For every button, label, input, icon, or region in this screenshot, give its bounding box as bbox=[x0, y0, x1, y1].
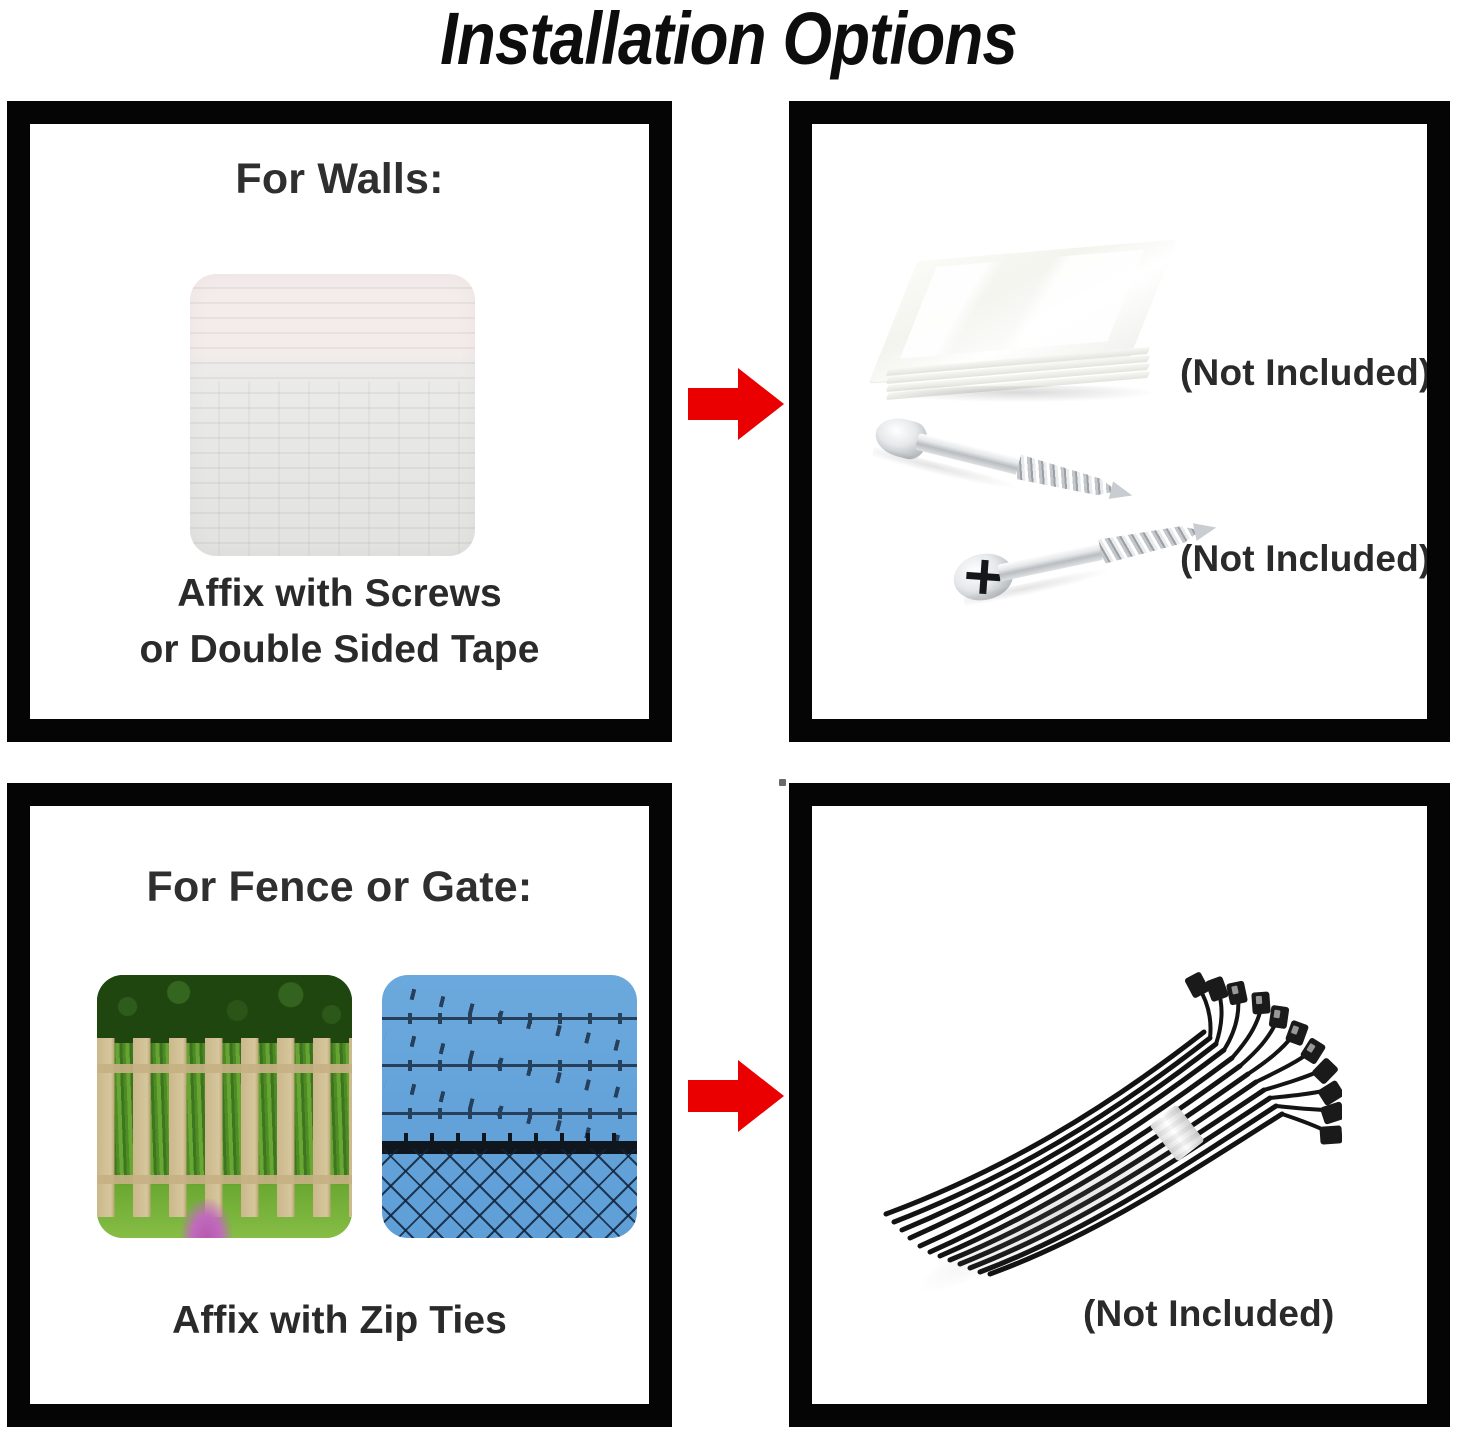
panel-fence-heading: For Fence or Gate: bbox=[30, 863, 649, 912]
panel-fence-hardware: (Not Included) bbox=[789, 783, 1450, 1427]
fence-rail bbox=[97, 1175, 352, 1184]
wall-photo bbox=[190, 274, 475, 556]
garden-path bbox=[181, 1199, 232, 1238]
caption-line-1: Affix with Screws bbox=[30, 566, 649, 621]
barbed-wire-strand bbox=[382, 1017, 637, 1020]
zip-ties-not-included-label: (Not Included) bbox=[1083, 1293, 1334, 1335]
panel-wall-hardware: (Not Included) (Not Included) bbox=[789, 101, 1450, 742]
screw-tip bbox=[1109, 481, 1135, 504]
panel-for-walls: For Walls: Affix with Screws or Double S… bbox=[7, 101, 672, 742]
barbed-wire-strand bbox=[382, 1112, 637, 1115]
barbed-wire-fence-photo bbox=[382, 975, 637, 1238]
barbed-wire-strand bbox=[382, 1064, 637, 1067]
arrow-shaft bbox=[688, 1080, 744, 1112]
brick-vertical-joints bbox=[190, 381, 475, 556]
screw-threads bbox=[1014, 452, 1120, 505]
panel-walls-caption: Affix with Screws or Double Sided Tape bbox=[30, 566, 649, 677]
right-arrow-icon bbox=[688, 368, 784, 440]
panel-fence-caption: Affix with Zip Ties bbox=[30, 1293, 649, 1348]
scan-artifact-speck bbox=[779, 779, 786, 786]
caption-line-2: or Double Sided Tape bbox=[30, 622, 649, 677]
screws-not-included-label: (Not Included) bbox=[1180, 538, 1427, 580]
picket-fence-photo bbox=[97, 975, 352, 1238]
panel-for-fence-or-gate: For Fence or Gate: Affix with Zip Ties bbox=[7, 783, 672, 1427]
panel-walls-heading: For Walls: bbox=[30, 155, 649, 204]
right-arrow-icon bbox=[688, 1060, 784, 1132]
zip-tie-bundle bbox=[872, 938, 1342, 1318]
page-title: Installation Options bbox=[102, 0, 1355, 81]
arrow-head bbox=[738, 368, 784, 440]
arrow-head bbox=[738, 1060, 784, 1132]
fence-rail bbox=[97, 1064, 352, 1073]
double-sided-tape-stack bbox=[882, 246, 1165, 414]
tape-not-included-label: (Not Included) bbox=[1180, 352, 1427, 394]
tape-shadow bbox=[886, 386, 1154, 402]
chain-link-mesh bbox=[382, 1149, 637, 1238]
arrow-shaft bbox=[688, 388, 744, 420]
